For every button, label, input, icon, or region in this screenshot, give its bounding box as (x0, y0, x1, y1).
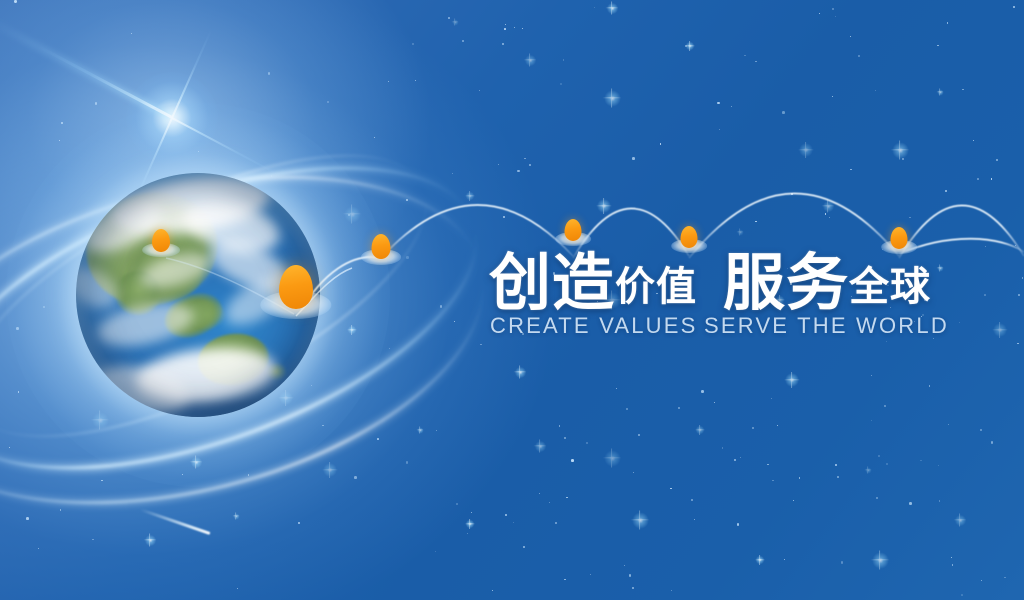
pin-marker-icon (564, 219, 581, 241)
sparkle-star (784, 372, 800, 388)
star (685, 45, 687, 47)
star (951, 557, 952, 558)
star (977, 178, 979, 180)
star (594, 7, 595, 8)
star (875, 90, 877, 92)
star (961, 594, 963, 596)
star (980, 429, 982, 431)
star (624, 565, 626, 567)
headline-phrase-two-primary: 服务 (723, 252, 849, 314)
star (837, 476, 839, 478)
star (858, 55, 860, 57)
star (59, 140, 60, 141)
star (717, 102, 719, 104)
star (772, 480, 774, 482)
star (480, 344, 482, 346)
sparkle-star (937, 89, 944, 96)
star (1018, 294, 1020, 296)
sparkle-star (798, 142, 814, 158)
star (452, 173, 454, 175)
star (996, 159, 998, 161)
star (719, 129, 720, 130)
sparkle-star (737, 229, 744, 236)
star (415, 80, 416, 81)
star (522, 28, 523, 29)
star (389, 348, 390, 349)
star (513, 522, 514, 523)
star (909, 502, 912, 505)
star (377, 438, 379, 440)
pin-route-4 (879, 225, 918, 255)
sparkle-star (534, 440, 547, 453)
subheadline: CREATE VALUES SERVE THE WORLD (490, 313, 949, 339)
star (829, 217, 830, 218)
star (564, 437, 566, 439)
star (937, 45, 939, 47)
star (850, 36, 851, 37)
star (60, 509, 62, 511)
star (959, 322, 960, 323)
sparkle-star (631, 511, 650, 530)
star (1017, 343, 1019, 345)
sparkle-star (465, 519, 475, 529)
sparkle-star (452, 19, 459, 26)
star (734, 459, 736, 461)
star (586, 442, 588, 444)
star (981, 580, 982, 581)
star (18, 391, 19, 392)
star (327, 101, 329, 103)
star (948, 424, 949, 425)
pin-marker-icon (890, 227, 907, 249)
star (782, 111, 785, 114)
star (886, 463, 888, 465)
star (436, 430, 437, 431)
star (876, 497, 878, 499)
star (539, 493, 540, 494)
sparkle-star (937, 265, 944, 272)
star (632, 157, 635, 160)
star (131, 33, 133, 35)
star (850, 169, 852, 171)
star (1022, 277, 1023, 278)
star (945, 190, 947, 192)
star (952, 564, 954, 566)
star (694, 519, 695, 520)
sparkle-star (755, 555, 765, 565)
star (559, 425, 561, 427)
subheadline-phrase-one: CREATE VALUES (490, 313, 704, 339)
star (298, 522, 300, 524)
star (985, 246, 986, 247)
star (237, 588, 238, 589)
star (412, 43, 414, 45)
headline-phrase-two-secondary: 全球 (849, 263, 931, 314)
star (962, 89, 964, 91)
pin-base-glow (555, 232, 591, 246)
star (505, 514, 507, 516)
star (722, 447, 724, 449)
star (744, 55, 746, 57)
star (633, 472, 634, 473)
star (514, 27, 516, 29)
star (771, 398, 772, 399)
sparkle-star (954, 514, 967, 527)
sparkle-star (865, 467, 872, 474)
star (767, 464, 769, 466)
subheadline-phrase-two: SERVE THE WORLD (704, 313, 949, 339)
star (590, 574, 591, 575)
comet-icon (140, 508, 211, 535)
arc-4 (899, 205, 1024, 258)
star (886, 341, 887, 342)
star (524, 158, 526, 160)
star (871, 375, 872, 376)
star (564, 579, 565, 580)
star (504, 28, 506, 30)
sparkle-star (465, 191, 475, 201)
star (1004, 577, 1006, 579)
star (973, 140, 974, 141)
star (9, 447, 10, 448)
star (440, 305, 442, 307)
star (549, 502, 550, 503)
star (388, 81, 389, 82)
flare-streak (0, 16, 174, 121)
pin-route-2 (553, 217, 592, 247)
star (920, 460, 922, 462)
star (456, 503, 458, 505)
sparkle-star (322, 462, 338, 478)
star (938, 465, 939, 466)
star (991, 178, 993, 180)
banner-hero: 创造 价值 服务 全球 CREATE VALUES SERVE THE WORL… (0, 0, 1024, 600)
star (777, 425, 778, 426)
star (471, 512, 472, 513)
sparkle-star (822, 200, 835, 213)
star (947, 22, 948, 23)
star (841, 561, 843, 563)
star (902, 158, 904, 160)
star (909, 217, 911, 219)
star (26, 517, 29, 520)
star (354, 476, 357, 479)
star (467, 533, 468, 534)
sparkle-star (695, 425, 705, 435)
star (626, 408, 628, 410)
star (878, 455, 880, 457)
star (406, 256, 409, 259)
star (406, 461, 408, 463)
star (678, 407, 680, 409)
star (701, 390, 704, 393)
star (638, 434, 640, 436)
star (714, 402, 715, 403)
star (752, 427, 754, 429)
star (95, 102, 97, 104)
star (884, 405, 886, 407)
headline: 创造 价值 服务 全球 (489, 252, 931, 314)
headline-phrase-one-secondary: 价值 (615, 263, 697, 314)
star (871, 420, 872, 421)
headline-phrase-one-primary: 创造 (489, 252, 615, 314)
star (731, 106, 732, 107)
star (835, 16, 836, 17)
sparkle-star (524, 54, 537, 67)
sparkle-star (606, 2, 619, 15)
star (835, 464, 837, 466)
sparkle-star (992, 322, 1008, 338)
star (374, 137, 375, 138)
star (691, 499, 694, 502)
star (1015, 245, 1016, 246)
globe-sphere (76, 173, 320, 417)
star (929, 385, 931, 387)
star (479, 90, 480, 91)
star (616, 388, 617, 389)
star (755, 221, 756, 222)
star (571, 459, 574, 462)
globe-limb-glow (76, 173, 320, 417)
star (784, 559, 785, 560)
star (454, 321, 455, 322)
star (448, 17, 450, 19)
star (793, 500, 795, 502)
sparkle-star (514, 366, 527, 379)
star (61, 122, 63, 124)
sparkle-star (596, 198, 612, 214)
star (671, 590, 672, 591)
star (101, 480, 103, 482)
star (670, 488, 672, 490)
star (517, 170, 519, 172)
star (560, 83, 562, 85)
pin-marker-icon (680, 226, 697, 248)
sparkle-star (603, 449, 622, 468)
star (505, 24, 506, 25)
star (406, 199, 408, 201)
star (799, 477, 800, 478)
star (268, 72, 270, 74)
star (660, 143, 661, 144)
sparkle-star (871, 551, 890, 570)
star (737, 523, 739, 525)
star (566, 497, 568, 499)
earth-globe (76, 173, 320, 417)
star (92, 539, 94, 541)
star (503, 216, 505, 218)
star (38, 548, 40, 550)
star (529, 164, 531, 166)
star (882, 249, 883, 250)
sparkle-star (417, 427, 424, 434)
sparkle-star (233, 513, 240, 520)
star (462, 40, 464, 42)
star (502, 43, 504, 45)
star (523, 546, 525, 548)
star (632, 587, 634, 589)
star (14, 0, 16, 2)
sparkle-star (891, 141, 910, 160)
star (939, 500, 941, 502)
star (825, 213, 827, 215)
star (791, 193, 793, 195)
pin-route-3 (669, 224, 708, 254)
star (498, 164, 499, 165)
star (819, 13, 820, 14)
star (832, 8, 834, 10)
star (740, 457, 741, 458)
sparkle-star (144, 534, 157, 547)
star (984, 294, 986, 296)
star (555, 522, 557, 524)
sparkle-star (685, 41, 695, 51)
star (563, 59, 564, 60)
star (492, 590, 493, 591)
star (435, 551, 436, 552)
star (629, 574, 631, 576)
star (991, 441, 993, 443)
star (1013, 6, 1015, 8)
star (755, 61, 756, 62)
star (832, 96, 833, 97)
sparkle-star (603, 89, 622, 108)
